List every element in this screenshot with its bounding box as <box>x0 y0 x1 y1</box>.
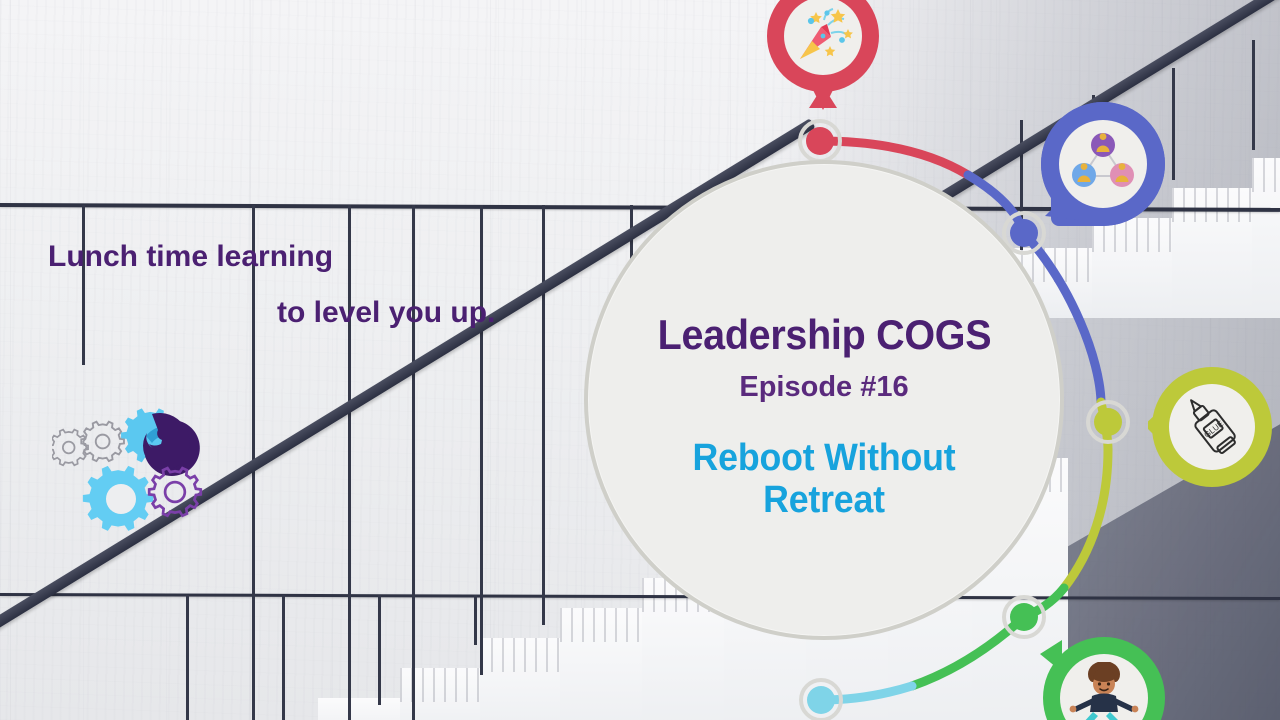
node-red <box>806 127 834 155</box>
stair-step <box>318 686 406 720</box>
episode-subtitle: Reboot Without Retreat <box>683 438 965 522</box>
node-cyan <box>807 686 835 714</box>
gear-gray-small-2 <box>81 422 124 461</box>
stair-step <box>560 596 652 720</box>
pin-team[interactable] <box>1037 98 1169 230</box>
baluster <box>542 205 545 625</box>
baluster <box>82 205 85 365</box>
team-network-icon <box>1059 120 1147 208</box>
baluster <box>186 595 189 720</box>
gear-cluster-decoration <box>52 398 232 550</box>
baluster <box>412 205 415 720</box>
baluster <box>282 595 285 720</box>
tagline-line-1: Lunch time learning <box>48 240 333 274</box>
stair-step <box>1252 146 1280 306</box>
gear-gray-small <box>52 430 88 466</box>
baluster <box>1172 68 1175 180</box>
pin-glue[interactable]: GLUE <box>1148 363 1276 491</box>
baluster <box>378 595 381 705</box>
episode-number: Episode #16 <box>739 371 908 404</box>
episode-card-circle: Leadership COGS Episode #16 Reboot Witho… <box>584 160 1064 640</box>
baluster <box>348 205 351 720</box>
party-popper-icon <box>784 0 862 75</box>
stair-step <box>1172 176 1256 306</box>
node-blue <box>1010 219 1038 247</box>
page-title: Leadership COGS <box>657 314 991 357</box>
glue-bottle-icon: GLUE <box>1170 385 1254 469</box>
pin-wellbeing[interactable] <box>1038 632 1170 720</box>
presentation-slide: GLUE <box>0 0 1280 720</box>
stair-step <box>480 626 570 720</box>
baluster <box>1252 40 1255 150</box>
baluster <box>474 595 477 645</box>
node-green <box>1010 603 1038 631</box>
baluster <box>480 205 483 675</box>
gear-lightblue-hub <box>106 484 136 514</box>
tagline-line-2: to level you up. <box>277 296 495 330</box>
node-yellow <box>1094 408 1122 436</box>
pin-celebration[interactable] <box>760 0 886 128</box>
